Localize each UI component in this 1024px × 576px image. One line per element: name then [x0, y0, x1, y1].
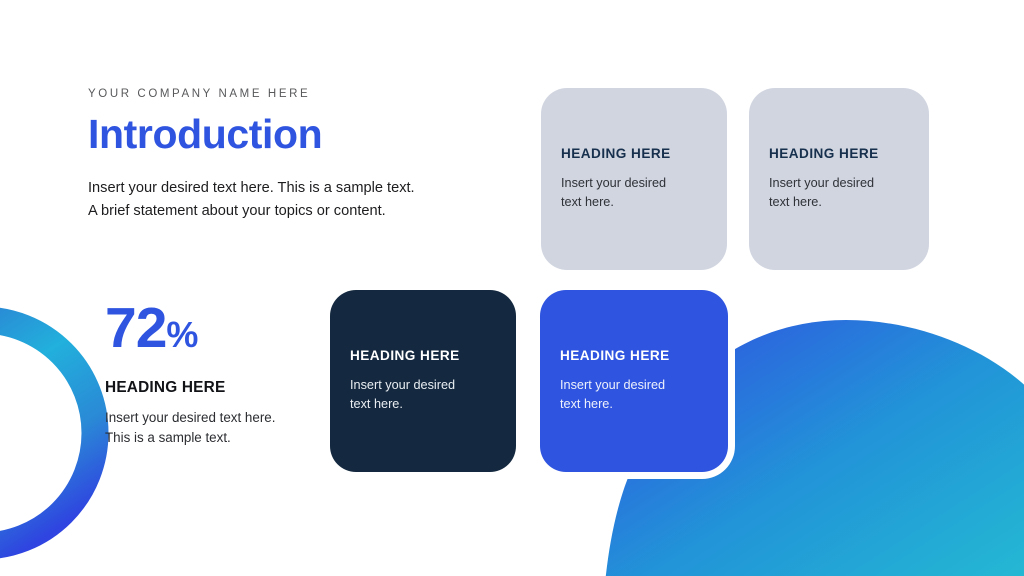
- percent-sign: %: [166, 314, 197, 355]
- card-body-line-1: Insert your desired: [560, 378, 665, 392]
- card-heading: HEADING HERE: [561, 146, 707, 161]
- card-heading: HEADING HERE: [560, 348, 708, 363]
- statistic-block: 72% HEADING HERE Insert your desired tex…: [105, 300, 335, 449]
- feature-card-2[interactable]: HEADING HERE Insert your desired text he…: [749, 88, 929, 270]
- card-body-line-2: text here.: [560, 397, 613, 411]
- intro-body-line-2: A brief statement about your topics or c…: [88, 203, 386, 219]
- gradient-ring-shape: [0, 299, 116, 567]
- feature-card-4[interactable]: HEADING HERE Insert your desired text he…: [540, 290, 728, 472]
- card-body-text: Insert your desired text here.: [769, 174, 909, 212]
- statistic-value: 72%: [105, 300, 335, 357]
- card-body-line-2: text here.: [769, 195, 822, 209]
- statistic-body-line-2: This is a sample text.: [105, 430, 231, 445]
- statistic-body-line-1: Insert your desired text here.: [105, 410, 275, 425]
- statistic-number: 72: [105, 296, 166, 360]
- card-body-text: Insert your desired text here.: [560, 376, 708, 414]
- intro-body-text: Insert your desired text here. This is a…: [88, 177, 488, 222]
- feature-card-3[interactable]: HEADING HERE Insert your desired text he…: [330, 290, 516, 472]
- card-heading: HEADING HERE: [350, 348, 496, 363]
- slide-canvas: YOUR COMPANY NAME HERE Introduction Inse…: [0, 0, 1024, 576]
- card-body-line-2: text here.: [561, 195, 614, 209]
- card-body-line-1: Insert your desired: [561, 176, 666, 190]
- card-body-text: Insert your desired text here.: [561, 174, 707, 212]
- card-body-text: Insert your desired text here.: [350, 376, 496, 414]
- feature-card-1[interactable]: HEADING HERE Insert your desired text he…: [541, 88, 727, 270]
- intro-body-line-1: Insert your desired text here. This is a…: [88, 180, 415, 196]
- intro-text-column: YOUR COMPANY NAME HERE Introduction Inse…: [88, 88, 488, 222]
- card-body-line-1: Insert your desired: [350, 378, 455, 392]
- company-name-kicker: YOUR COMPANY NAME HERE: [88, 88, 488, 100]
- card-body-line-2: text here.: [350, 397, 403, 411]
- statistic-body-text: Insert your desired text here. This is a…: [105, 408, 335, 449]
- page-title: Introduction: [88, 112, 488, 158]
- card-body-line-1: Insert your desired: [769, 176, 874, 190]
- statistic-heading: HEADING HERE: [105, 379, 335, 397]
- card-heading: HEADING HERE: [769, 146, 909, 161]
